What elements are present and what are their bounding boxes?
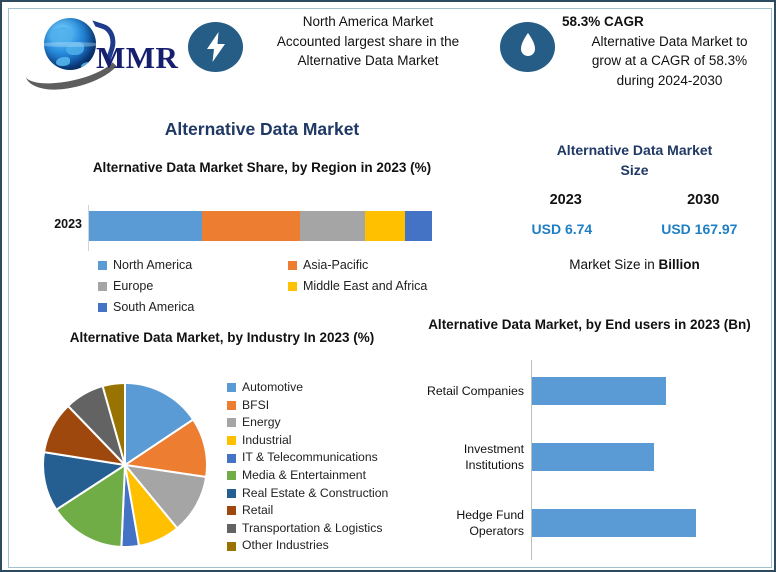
legend-swatch-icon bbox=[227, 383, 236, 392]
industry-pie-plot bbox=[40, 380, 210, 550]
legend-label: BFSI bbox=[242, 397, 269, 415]
flame-icon bbox=[500, 22, 555, 72]
region-chart-plot: 2023 bbox=[12, 205, 482, 251]
infographic-frame: MMR North America Market Accounted large… bbox=[0, 0, 776, 572]
market-size-value-2023: USD 6.74 bbox=[532, 221, 593, 237]
legend-label: Middle East and Africa bbox=[303, 276, 427, 296]
legend-swatch-icon bbox=[227, 524, 236, 533]
legend-label: Europe bbox=[113, 276, 153, 296]
end-users-plot: Retail CompaniesInvestment InstitutionsH… bbox=[402, 360, 772, 560]
market-size-footer: Market Size in Billion bbox=[497, 257, 772, 272]
end-users-chart-title: Alternative Data Market, by End users in… bbox=[417, 314, 762, 335]
legend-swatch-icon bbox=[227, 436, 236, 445]
region-legend: North AmericaAsia-PacificEuropeMiddle Ea… bbox=[98, 255, 478, 318]
legend-label: Other Industries bbox=[242, 537, 329, 555]
lightning-bolt-icon bbox=[188, 22, 243, 72]
legend-label: Media & Entertainment bbox=[242, 467, 366, 485]
end-users-row: Retail Companies bbox=[402, 360, 772, 422]
header-stat-cagr: 58.3% CAGR Alternative Data Market to gr… bbox=[500, 12, 776, 92]
legend-swatch-icon bbox=[227, 418, 236, 427]
stat-line-3: Alternative Data Market bbox=[252, 51, 484, 71]
market-size-footer-unit: Billion bbox=[659, 257, 700, 272]
market-size-year-2023: 2023 bbox=[550, 192, 582, 208]
market-size-panel: Alternative Data Market Size 2023 2030 U… bbox=[497, 140, 772, 272]
end-users-bar bbox=[532, 443, 654, 471]
legend-swatch-icon bbox=[98, 261, 107, 270]
region-segment-asia-pacific bbox=[202, 211, 300, 241]
legend-label: Industrial bbox=[242, 432, 291, 450]
market-size-years: 2023 2030 bbox=[497, 192, 772, 208]
legend-item: Asia-Pacific bbox=[288, 255, 478, 275]
legend-swatch-icon bbox=[98, 282, 107, 291]
stat-line-2: Accounted largest share in the bbox=[252, 32, 484, 52]
legend-swatch-icon bbox=[288, 282, 297, 291]
header: MMR North America Market Accounted large… bbox=[10, 8, 770, 106]
stat-text-block: North America Market Accounted largest s… bbox=[252, 12, 484, 71]
region-segment-europe bbox=[300, 211, 365, 241]
legend-swatch-icon bbox=[227, 506, 236, 515]
legend-label: Automotive bbox=[242, 379, 303, 397]
market-size-value-2030: USD 167.97 bbox=[661, 221, 737, 237]
industry-chart-title: Alternative Data Market, by Industry In … bbox=[42, 327, 402, 348]
market-size-title-line2: Size bbox=[497, 160, 772, 180]
header-stat-north-america: North America Market Accounted largest s… bbox=[188, 12, 488, 92]
end-users-bar bbox=[532, 377, 666, 405]
brand-name: MMR bbox=[96, 40, 178, 76]
region-segment-north-america bbox=[89, 211, 202, 241]
region-segment-south-america bbox=[405, 211, 432, 241]
end-users-category-label: Investment Institutions bbox=[402, 426, 524, 488]
end-users-row: Hedge Fund Operators bbox=[402, 492, 772, 554]
legend-item: Europe bbox=[98, 276, 288, 296]
legend-swatch-icon bbox=[227, 471, 236, 480]
legend-swatch-icon bbox=[98, 303, 107, 312]
end-users-row: Investment Institutions bbox=[402, 426, 772, 488]
legend-label: Asia-Pacific bbox=[303, 255, 368, 275]
market-size-values: USD 6.74 USD 167.97 bbox=[497, 221, 772, 237]
stat-line-1: North America Market bbox=[252, 12, 484, 32]
legend-swatch-icon bbox=[288, 261, 297, 270]
end-users-category-label: Retail Companies bbox=[402, 360, 524, 422]
legend-label: South America bbox=[113, 297, 194, 317]
region-stacked-bar bbox=[89, 211, 432, 241]
stat-line-3: grow at a CAGR of 58.3% bbox=[562, 51, 776, 71]
region-segment-middle-east-and-africa bbox=[365, 211, 405, 241]
legend-item: North America bbox=[98, 255, 288, 275]
legend-label: Energy bbox=[242, 414, 281, 432]
end-users-bar bbox=[532, 509, 696, 537]
legend-label: IT & Telecommunications bbox=[242, 449, 378, 467]
page-title: Alternative Data Market bbox=[2, 119, 522, 140]
legend-swatch-icon bbox=[227, 454, 236, 463]
legend-label: Retail bbox=[242, 502, 273, 520]
end-users-category-label: Hedge Fund Operators bbox=[402, 492, 524, 554]
market-size-title: Alternative Data Market Size bbox=[497, 140, 772, 180]
legend-label: Real Estate & Construction bbox=[242, 485, 388, 503]
legend-swatch-icon bbox=[227, 542, 236, 551]
region-ytick-2023: 2023 bbox=[22, 217, 82, 231]
market-size-footer-prefix: Market Size in bbox=[569, 257, 658, 272]
legend-label: North America bbox=[113, 255, 192, 275]
market-size-year-2030: 2030 bbox=[687, 192, 719, 208]
stat-line-2: Alternative Data Market to bbox=[562, 32, 776, 52]
brand-logo: MMR bbox=[22, 14, 182, 86]
legend-item: Middle East and Africa bbox=[288, 276, 478, 296]
legend-label: Transportation & Logistics bbox=[242, 520, 382, 538]
stat-line-4: during 2024-2030 bbox=[562, 71, 776, 91]
legend-swatch-icon bbox=[227, 489, 236, 498]
region-chart-title: Alternative Data Market Share, by Region… bbox=[67, 157, 457, 178]
market-size-title-line1: Alternative Data Market bbox=[497, 140, 772, 160]
legend-swatch-icon bbox=[227, 401, 236, 410]
stat-headline: 58.3% CAGR bbox=[562, 12, 776, 32]
legend-item: South America bbox=[98, 297, 288, 317]
stat-text-block: 58.3% CAGR Alternative Data Market to gr… bbox=[562, 12, 776, 90]
